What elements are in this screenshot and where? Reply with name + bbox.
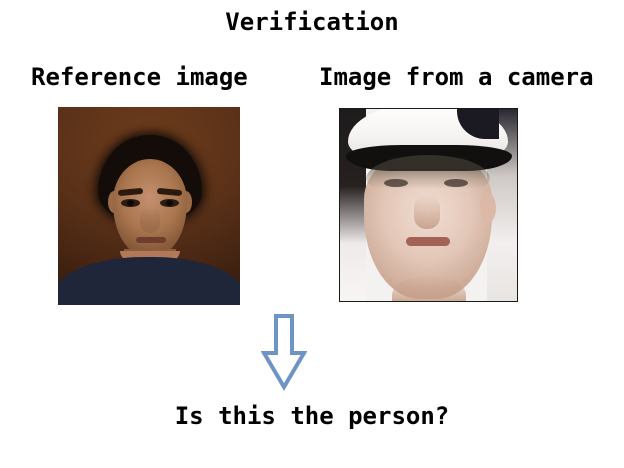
camera-eye-right [444, 179, 468, 187]
camera-ear [480, 193, 496, 223]
reference-shirt [58, 257, 240, 305]
camera-eye-left [384, 179, 408, 187]
camera-photo [339, 108, 518, 302]
page-title: Verification [0, 8, 624, 36]
down-arrow-shape [264, 316, 304, 387]
camera-mouth [406, 237, 450, 246]
reference-eye-left [121, 199, 140, 207]
camera-image-label: Image from a camera [319, 63, 594, 91]
reference-nose [140, 207, 160, 233]
reference-mouth [136, 237, 166, 243]
verification-slide: Verification Reference image Image from … [0, 0, 624, 468]
reference-image-label: Reference image [31, 63, 248, 91]
down-arrow-icon [261, 313, 307, 391]
question-text: Is this the person? [0, 402, 624, 430]
camera-nose [414, 195, 440, 229]
reference-eye-right [160, 199, 179, 207]
reference-photo [58, 107, 240, 305]
